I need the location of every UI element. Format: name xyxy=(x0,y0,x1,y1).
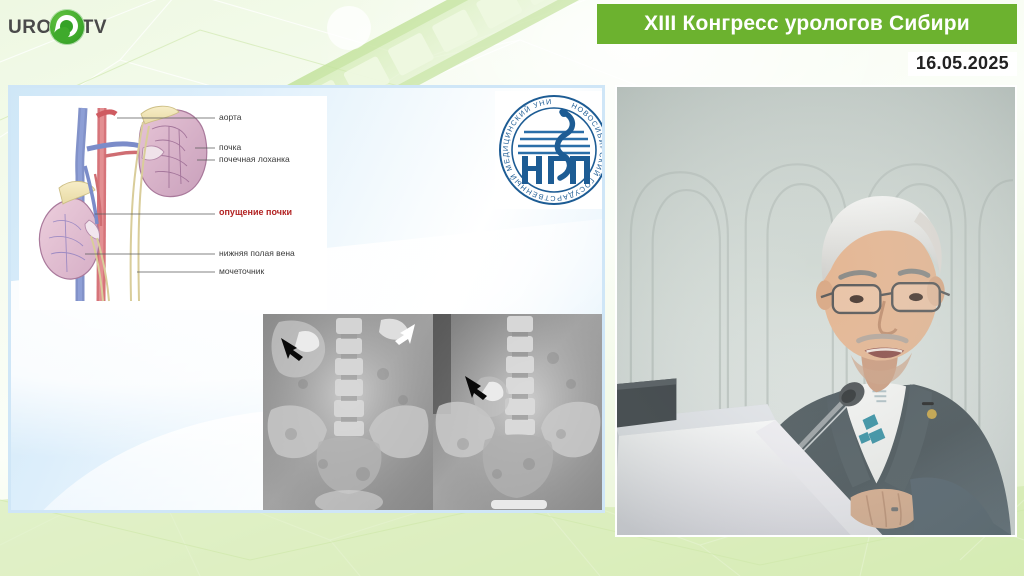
congress-title-banner: XIII Конгресс урологов Сибири xyxy=(597,4,1017,44)
label-renal-pelvis: почечная лоханка xyxy=(219,154,290,164)
label-kidney: почка xyxy=(219,142,241,152)
logo-text-uro: URO xyxy=(8,18,52,37)
kidney-anatomy-diagram: аорта почка почечная лоханка опущение по… xyxy=(19,96,327,310)
date-text: 16.05.2025 xyxy=(916,53,1009,73)
xray-urography-left xyxy=(263,314,433,512)
logo-text-tv: TV xyxy=(82,18,107,37)
nsmu-university-logo: НОВОСИБИРСКИЙ ГОСУДАРСТВЕННЫЙ МЕДИЦИНСКИ… xyxy=(495,91,605,209)
presentation-slide: аорта почка почечная лоханка опущение по… xyxy=(8,85,605,513)
xray-urography-right xyxy=(433,314,603,512)
date-badge: 16.05.2025 xyxy=(908,52,1017,76)
congress-title: XIII Конгресс урологов Сибири xyxy=(644,12,970,36)
label-vena-cava: нижняя полая вена xyxy=(219,248,295,258)
label-aorta: аорта xyxy=(219,112,242,122)
label-ureter: мочеточник xyxy=(219,266,264,276)
uro-tv-green-circle-emblem xyxy=(49,9,85,45)
speaker-video-feed[interactable] xyxy=(615,85,1017,537)
broadcast-screen: URO TV XIII Конгресс урологов Сибири 16.… xyxy=(0,0,1024,576)
channel-logo: URO TV xyxy=(8,6,120,48)
label-nephroptosis: опущение почки xyxy=(219,207,292,217)
xray-image-pair xyxy=(263,314,603,512)
